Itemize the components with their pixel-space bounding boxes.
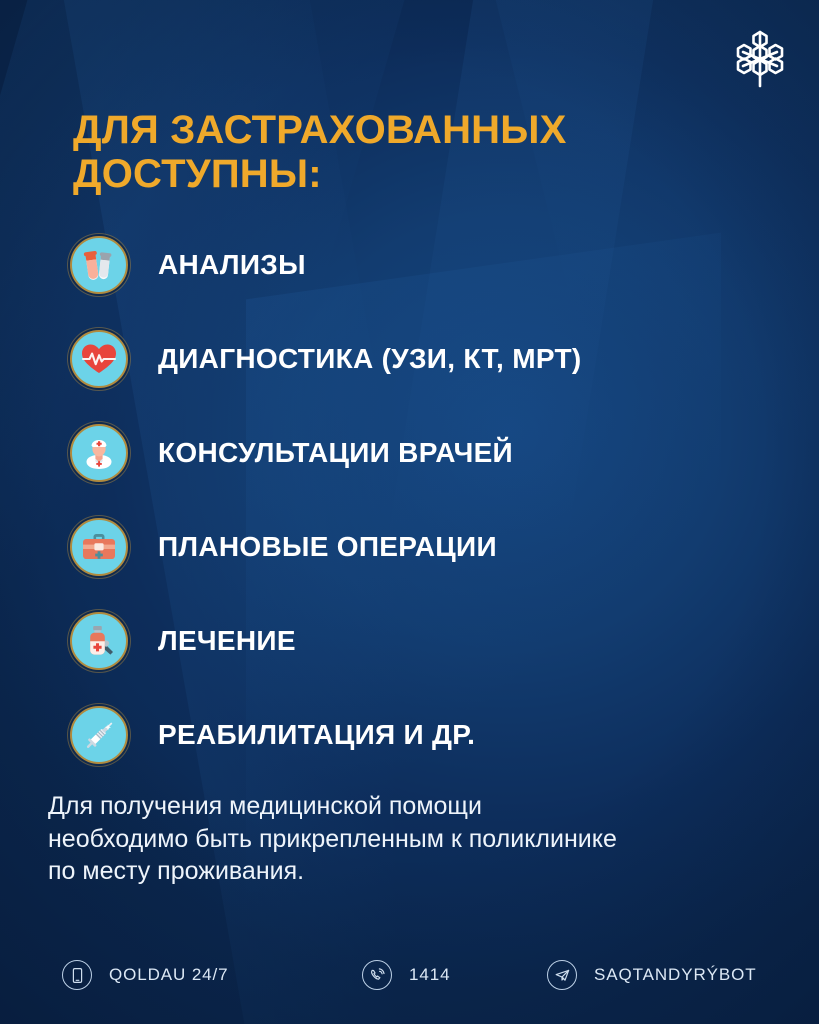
note-line-2: необходимо быть прикрепленным к поликлин…: [48, 823, 788, 856]
mobile-phone-icon: [62, 960, 92, 990]
medical-bag-icon: [70, 518, 128, 576]
syringe-icon: [70, 706, 128, 764]
page-title-line-1: ДЛЯ ЗАСТРАХОВАННЫХ: [73, 108, 693, 152]
page-title: ДЛЯ ЗАСТРАХОВАННЫХ ДОСТУПНЫ:: [73, 108, 693, 196]
test-tubes-icon: [70, 236, 128, 294]
contact-telegram-bot[interactable]: SAQTANDYRÝBOT: [547, 960, 757, 990]
contact-label: 1414: [409, 965, 450, 985]
note-paragraph: Для получения медицинской помощи необход…: [48, 790, 788, 888]
contact-hotline[interactable]: 1414: [362, 960, 547, 990]
infographic-poster: ДЛЯ ЗАСТРАХОВАННЫХ ДОСТУПНЫ:: [0, 0, 819, 1024]
list-item-label: АНАЛИЗЫ: [158, 249, 306, 281]
list-item-label: ДИАГНОСТИКА (УЗИ, КТ, МРТ): [158, 343, 581, 375]
heart-pulse-icon: [70, 330, 128, 388]
list-item: ПЛАНОВЫЕ ОПЕРАЦИИ: [70, 500, 790, 594]
note-line-1: Для получения медицинской помощи: [48, 790, 788, 823]
list-item: РЕАБИЛИТАЦИЯ И ДР.: [70, 688, 790, 782]
note-line-3: по месту проживания.: [48, 855, 788, 888]
contact-label: QOLDAU 24/7: [109, 965, 229, 985]
medicine-bottle-icon: [70, 612, 128, 670]
list-item-label: ПЛАНОВЫЕ ОПЕРАЦИИ: [158, 531, 497, 563]
list-item: КОНСУЛЬТАЦИИ ВРАЧЕЙ: [70, 406, 790, 500]
list-item: ДИАГНОСТИКА (УЗИ, КТ, МРТ): [70, 312, 790, 406]
contact-label: SAQTANDYRÝBOT: [594, 965, 757, 985]
list-item-label: РЕАБИЛИТАЦИЯ И ДР.: [158, 719, 475, 751]
phone-call-icon: [362, 960, 392, 990]
list-item-label: ЛЕЧЕНИЕ: [158, 625, 296, 657]
contact-qoldau[interactable]: QOLDAU 24/7: [62, 960, 362, 990]
services-list: АНАЛИЗЫ ДИАГНОСТИКА (УЗИ, КТ, МРТ): [70, 218, 790, 782]
telegram-plane-icon: [547, 960, 577, 990]
list-item: ЛЕЧЕНИЕ: [70, 594, 790, 688]
footer-contacts: QOLDAU 24/7 1414 SAQTANDYRÝBOT: [0, 960, 819, 990]
page-title-line-2: ДОСТУПНЫ:: [73, 152, 693, 196]
snowflake-ornament-logo-icon: [729, 26, 791, 92]
nurse-icon: [70, 424, 128, 482]
list-item-label: КОНСУЛЬТАЦИИ ВРАЧЕЙ: [158, 437, 513, 469]
list-item: АНАЛИЗЫ: [70, 218, 790, 312]
